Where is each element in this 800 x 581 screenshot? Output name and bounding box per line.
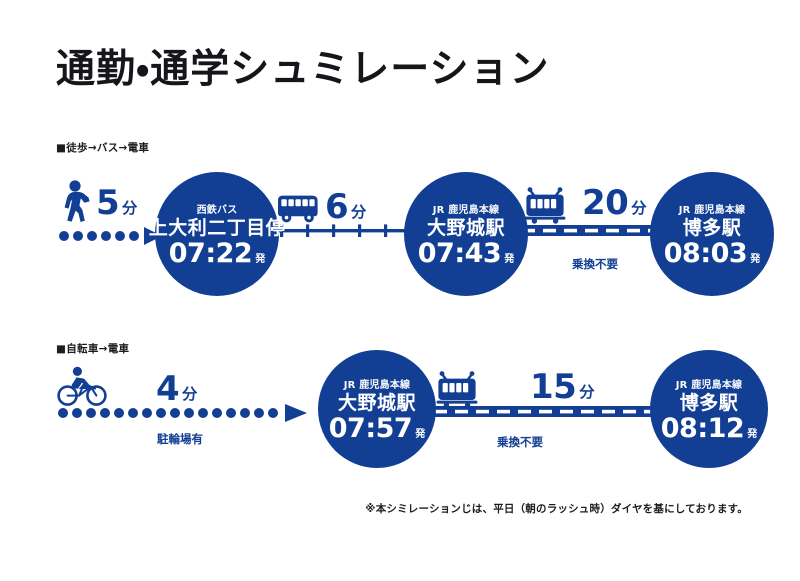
segment-note-no-transfer-1: 乗換不要 <box>516 256 674 272</box>
station-line-name: JR 鹿児島本線 <box>433 201 500 216</box>
station-circle-hakata-1: JR 鹿児島本線 博多駅 08:03 発 <box>650 172 774 296</box>
duration-walk: 5 分 <box>96 186 137 220</box>
station-departure-suffix: 発 <box>255 250 265 265</box>
segment-note-bicycle-parking: 駐輪場有 <box>120 431 240 447</box>
station-circle-onojo: JR 鹿児島本線 大野城駅 07:43 発 <box>404 172 528 296</box>
route-heading-walk-bus-train: ■徒歩→バス→電車 <box>56 140 149 155</box>
station-time-wrap: 07:22 発 <box>169 240 265 267</box>
station-departure-suffix: 発 <box>504 250 514 265</box>
station-line-name: JR 鹿児島本線 <box>676 376 743 391</box>
bus-icon <box>276 194 320 224</box>
duration-train-2-unit: 分 <box>579 381 594 402</box>
station-line-name: JR 鹿児島本線 <box>344 376 411 391</box>
dotted-arrow-connector-walk <box>58 226 162 246</box>
segment-note-no-transfer-2: 乗換不要 <box>440 434 600 450</box>
commute-simulation-page: 通勤・通学シュミレーション ■徒歩→バス→電車 5 分 <box>0 0 800 581</box>
duration-bicycle-value: 4 <box>156 372 179 406</box>
station-departure-suffix: 発 <box>750 250 760 265</box>
duration-bicycle: 4 分 <box>156 372 197 406</box>
station-name: 大野城駅 <box>427 218 505 239</box>
duration-train-1-unit: 分 <box>631 197 646 218</box>
station-departure-time: 08:12 <box>661 415 744 442</box>
station-name: 博多駅 <box>683 218 742 239</box>
duration-train-1: 20 分 <box>582 186 646 220</box>
bicycle-icon <box>57 366 111 408</box>
station-name: 博多駅 <box>680 393 739 414</box>
train-icon <box>436 370 478 408</box>
duration-train-2-value: 15 <box>530 370 576 404</box>
station-circle-onojo-2: JR 鹿児島本線 大野城駅 07:57 発 <box>318 350 436 468</box>
duration-walk-value: 5 <box>96 186 119 220</box>
station-time-wrap: 08:12 発 <box>661 415 757 442</box>
route-heading-bicycle-train: ■自転車→電車 <box>56 341 129 356</box>
train-icon <box>524 186 566 224</box>
station-line-name: JR 鹿児島本線 <box>679 201 746 216</box>
duration-bus: 6 分 <box>325 190 366 224</box>
station-name: 大野城駅 <box>338 393 416 414</box>
station-departure-suffix: 発 <box>415 425 425 440</box>
station-circle-kamioori-nichome: 西鉄バス 上大利二丁目停 07:22 発 <box>155 172 279 296</box>
duration-bicycle-unit: 分 <box>182 383 197 404</box>
walking-person-icon <box>60 180 94 224</box>
duration-train-2: 15 分 <box>530 370 594 404</box>
station-circle-hakata-2: JR 鹿児島本線 博多駅 08:12 発 <box>650 350 768 468</box>
station-time-wrap: 07:57 発 <box>329 415 425 442</box>
station-departure-time: 07:43 <box>418 240 501 267</box>
station-departure-time: 07:22 <box>169 240 252 267</box>
station-departure-time: 07:57 <box>329 415 412 442</box>
station-departure-time: 08:03 <box>664 240 747 267</box>
station-time-wrap: 08:03 発 <box>664 240 760 267</box>
duration-walk-unit: 分 <box>122 197 137 218</box>
duration-bus-unit: 分 <box>351 201 366 222</box>
duration-train-1-value: 20 <box>582 186 628 220</box>
station-name: 上大利二丁目停 <box>149 218 286 239</box>
station-departure-suffix: 発 <box>747 425 757 440</box>
station-time-wrap: 07:43 発 <box>418 240 514 267</box>
footnote: ※本シミレーションじは、平日（朝のラッシュ時）ダイヤを基にしております。 <box>365 501 748 516</box>
station-line-name: 西鉄バス <box>197 201 238 216</box>
duration-bus-value: 6 <box>325 190 348 224</box>
page-title: 通勤・通学シュミレーション <box>56 48 549 93</box>
